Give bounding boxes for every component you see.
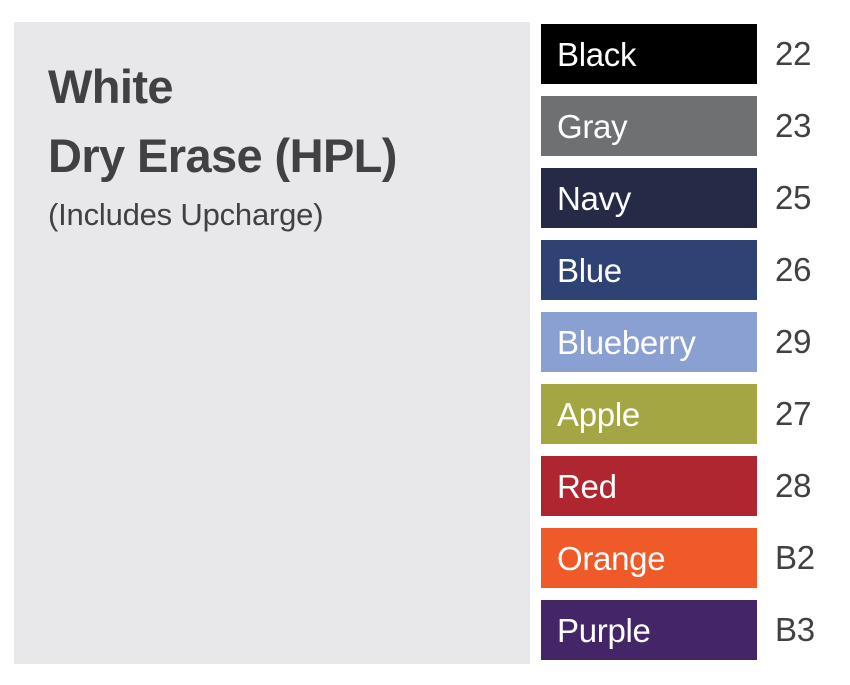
color-swatch-code: 22 xyxy=(775,24,811,84)
color-swatch-name: Orange xyxy=(557,542,665,575)
color-swatch-chip[interactable]: Navy xyxy=(541,168,757,228)
product-title-line-1: White xyxy=(48,52,530,121)
color-swatch-code: 27 xyxy=(775,384,811,444)
color-swatch-chip[interactable]: Orange xyxy=(541,528,757,588)
color-swatch-chip[interactable]: Blueberry xyxy=(541,312,757,372)
swatch-row[interactable]: Black22 xyxy=(541,24,841,84)
swatch-row[interactable]: PurpleB3 xyxy=(541,600,841,660)
color-swatch-name: Blue xyxy=(557,254,622,287)
color-swatch-chip[interactable]: Purple xyxy=(541,600,757,660)
product-info-panel: White Dry Erase (HPL) (Includes Upcharge… xyxy=(14,22,530,664)
swatch-row[interactable]: Navy25 xyxy=(541,168,841,228)
color-swatch-name: Blueberry xyxy=(557,326,696,359)
color-swatch-name: Red xyxy=(557,470,617,503)
color-swatch-code: B3 xyxy=(775,600,815,660)
color-swatch-list: Black22Gray23Navy25Blue26Blueberry29Appl… xyxy=(541,24,841,660)
product-title: White Dry Erase (HPL) (Includes Upcharge… xyxy=(48,52,530,239)
product-title-line-2: Dry Erase (HPL) xyxy=(48,121,530,190)
swatch-row[interactable]: Gray23 xyxy=(541,96,841,156)
color-swatch-chip[interactable]: Gray xyxy=(541,96,757,156)
color-swatch-code: 26 xyxy=(775,240,811,300)
color-option-board: White Dry Erase (HPL) (Includes Upcharge… xyxy=(0,0,850,685)
swatch-row[interactable]: Apple27 xyxy=(541,384,841,444)
color-swatch-name: Black xyxy=(557,38,636,71)
swatch-row[interactable]: OrangeB2 xyxy=(541,528,841,588)
swatch-row[interactable]: Red28 xyxy=(541,456,841,516)
swatch-row[interactable]: Blueberry29 xyxy=(541,312,841,372)
color-swatch-code: 23 xyxy=(775,96,811,156)
product-subtitle: (Includes Upcharge) xyxy=(48,192,530,239)
color-swatch-name: Navy xyxy=(557,182,631,215)
color-swatch-chip[interactable]: Red xyxy=(541,456,757,516)
color-swatch-chip[interactable]: Black xyxy=(541,24,757,84)
color-swatch-code: 29 xyxy=(775,312,811,372)
swatch-row[interactable]: Blue26 xyxy=(541,240,841,300)
color-swatch-name: Purple xyxy=(557,614,651,647)
color-swatch-code: 25 xyxy=(775,168,811,228)
color-swatch-chip[interactable]: Apple xyxy=(541,384,757,444)
color-swatch-code: 28 xyxy=(775,456,811,516)
color-swatch-name: Apple xyxy=(557,398,640,431)
color-swatch-code: B2 xyxy=(775,528,815,588)
color-swatch-chip[interactable]: Blue xyxy=(541,240,757,300)
color-swatch-name: Gray xyxy=(557,110,627,143)
